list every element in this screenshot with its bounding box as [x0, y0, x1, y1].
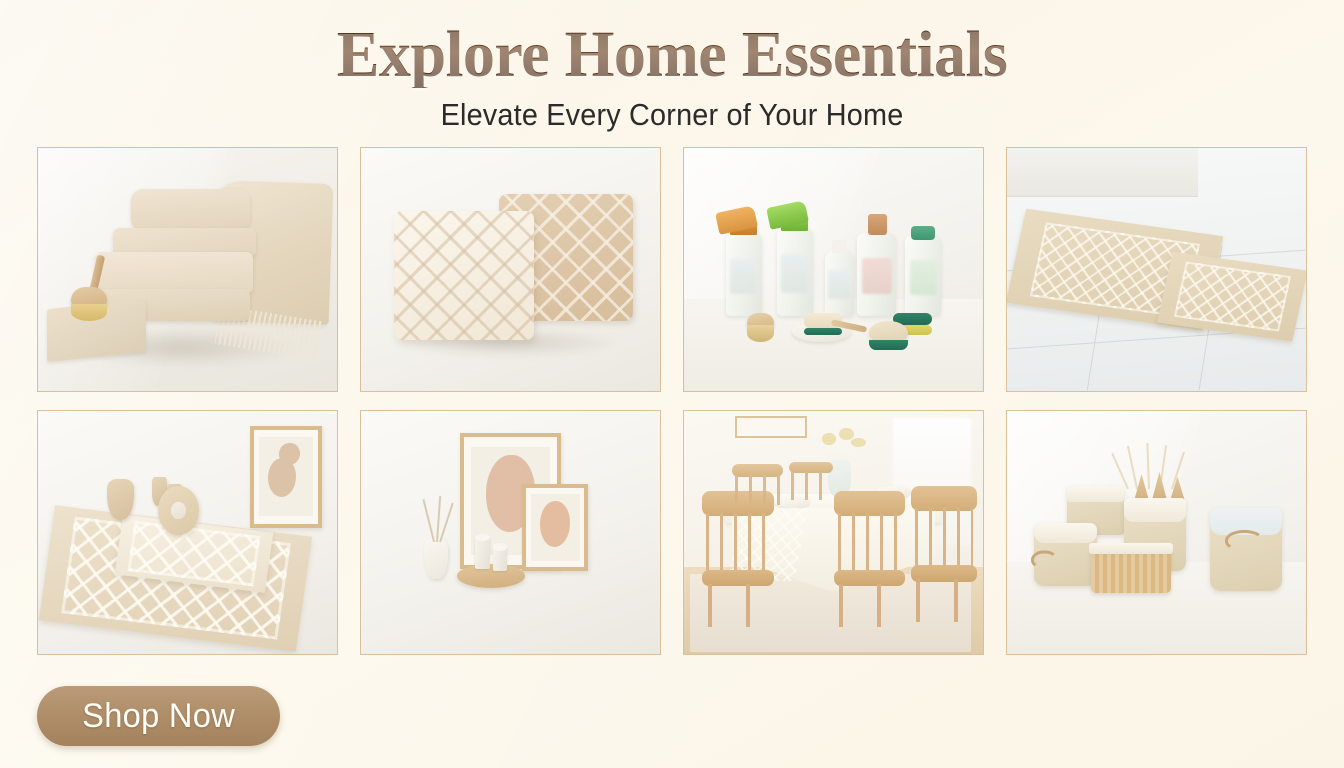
gallery-item-cushions[interactable] — [360, 147, 661, 392]
shop-now-label: Shop Now — [82, 697, 235, 736]
towels-image — [38, 148, 337, 391]
gallery-item-baskets[interactable] — [1006, 410, 1307, 655]
banner-header: Explore Home Essentials Elevate Every Co… — [0, 22, 1344, 133]
dining-room-image — [684, 411, 983, 654]
gallery-item-frames[interactable] — [360, 410, 661, 655]
shop-now-button[interactable]: Shop Now — [37, 686, 280, 746]
page-title: Explore Home Essentials — [20, 22, 1324, 88]
cleaning-supplies-image — [684, 148, 983, 391]
gallery-item-bathmats[interactable] — [1006, 147, 1307, 392]
gallery-item-cleaning[interactable] — [683, 147, 984, 392]
bath-mats-image — [1007, 148, 1306, 391]
vases-rug-image — [38, 411, 337, 654]
gallery-item-towels[interactable] — [37, 147, 338, 392]
gallery-item-vases[interactable] — [37, 410, 338, 655]
page-subtitle: Elevate Every Corner of Your Home — [47, 97, 1297, 133]
cushions-image — [361, 148, 660, 391]
storage-baskets-image — [1007, 411, 1306, 654]
promo-banner: Explore Home Essentials Elevate Every Co… — [0, 0, 1344, 768]
product-gallery-grid — [37, 147, 1307, 655]
gallery-item-dining[interactable] — [683, 410, 984, 655]
frames-decor-image — [361, 411, 660, 654]
